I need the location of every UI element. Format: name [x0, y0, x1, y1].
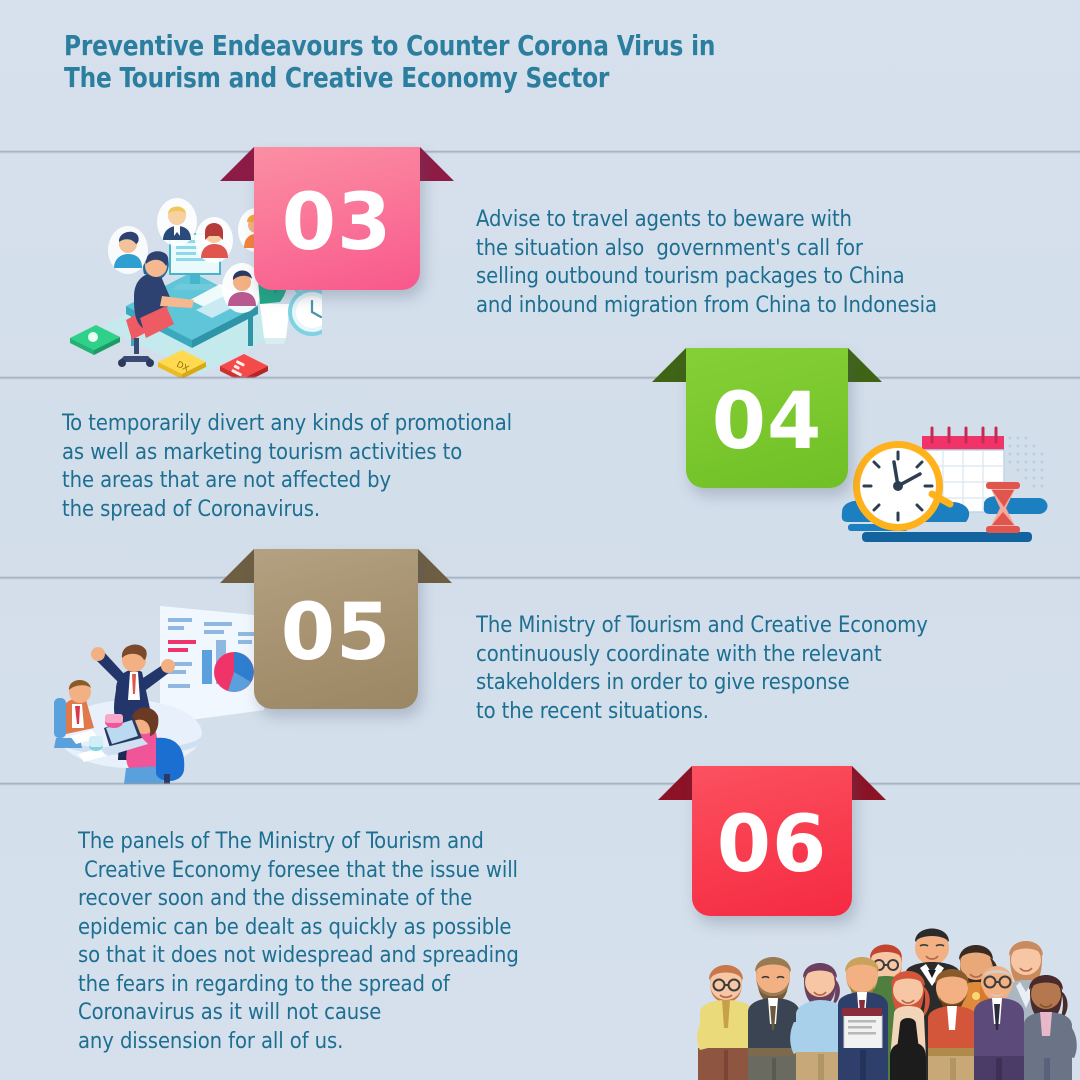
ribbon-body-06: 06: [692, 766, 852, 916]
ribbon-tail-right-06: [852, 766, 886, 800]
ribbon-tail-left-04: [652, 348, 686, 382]
section-text-06: The panels of The Ministry of Tourism an…: [78, 827, 679, 1055]
section-badge-03: 03: [254, 147, 420, 290]
illustration-diverse-group-of-people: [694, 908, 1080, 1080]
section-number-06: 06: [717, 806, 828, 884]
section-divider-3: [0, 576, 1080, 580]
ribbon-tail-right-03: [420, 147, 454, 181]
section-number-05: 05: [281, 594, 392, 672]
section-divider-4: [0, 782, 1080, 786]
ribbon-tail-left-03: [220, 147, 254, 181]
ribbon-body-04: 04: [686, 348, 848, 488]
ribbon-tail-left-06: [658, 766, 692, 800]
section-number-04: 04: [712, 383, 823, 461]
section-badge-06: 06: [692, 766, 852, 916]
illustration-business-presentation-meeting: [52, 588, 272, 784]
page-title: Preventive Endeavours to Counter Corona …: [64, 30, 964, 94]
section-divider-2: [0, 376, 1080, 380]
illustration-clock-calendar-hourglass: [834, 420, 1064, 550]
section-text-04: To temporarily divert any kinds of promo…: [62, 409, 644, 523]
section-text-03: Advise to travel agents to beware with t…: [476, 205, 1039, 319]
ribbon-body-05: 05: [254, 549, 418, 709]
section-badge-05: 05: [254, 549, 418, 709]
section-divider-1: [0, 150, 1080, 154]
ribbon-tail-right-05: [418, 549, 452, 583]
ribbon-tail-right-04: [848, 348, 882, 382]
section-text-05: The Ministry of Tourism and Creative Eco…: [476, 611, 1039, 725]
section-badge-04: 04: [686, 348, 848, 488]
ribbon-body-03: 03: [254, 147, 420, 290]
page-title-line-1: Preventive Endeavours to Counter Corona …: [64, 30, 910, 62]
ribbon-tail-left-05: [220, 549, 254, 583]
page-title-line-2: The Tourism and Creative Economy Sector: [64, 62, 910, 94]
infographic-canvas: Preventive Endeavours to Counter Corona …: [0, 0, 1080, 1080]
section-number-03: 03: [282, 184, 393, 262]
